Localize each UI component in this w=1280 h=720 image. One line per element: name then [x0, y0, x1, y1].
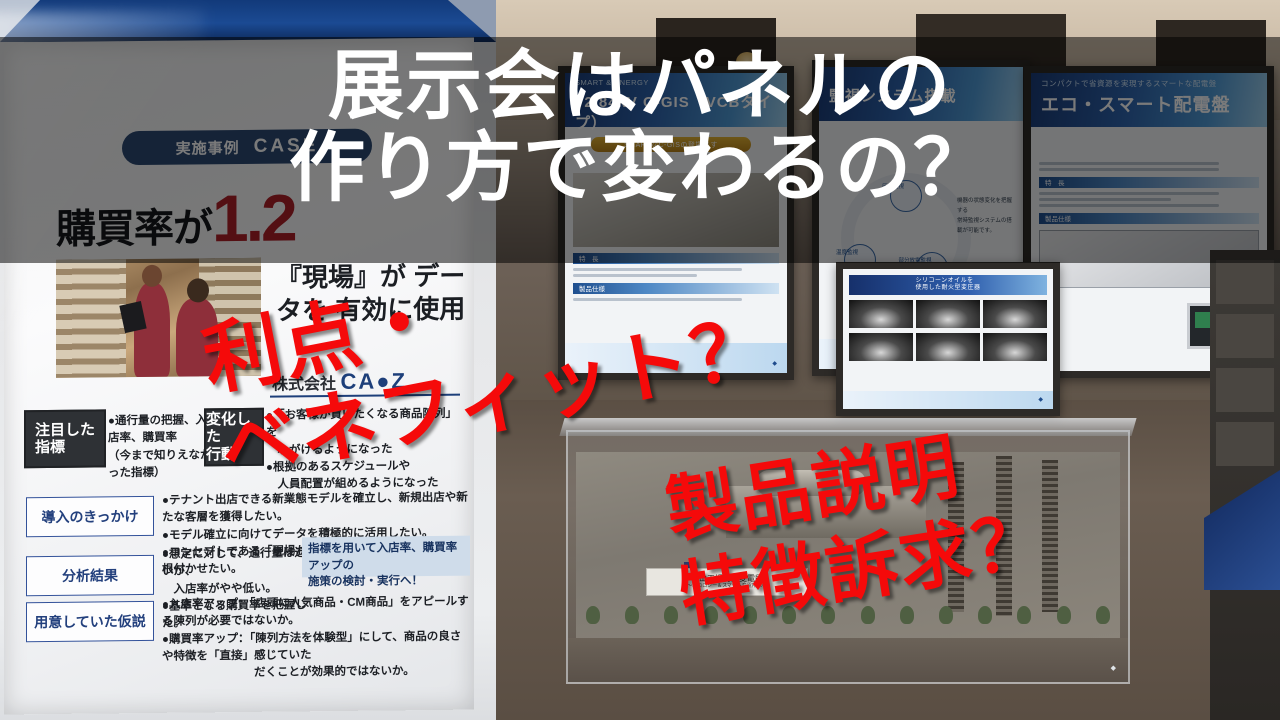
panel-silicone-footer: ◆ — [843, 391, 1053, 409]
panel-silicone-oil: シリコーンオイルを 使用した耐火型変圧器 ◆ — [836, 262, 1060, 416]
flame-photo — [916, 300, 980, 328]
metric-chip: 注目した 指標 — [24, 409, 106, 468]
row-label-kasetsu: 用意していた仮説 — [26, 601, 154, 642]
rack-shelf — [1216, 368, 1274, 412]
flame-test-row-1 — [849, 300, 1047, 328]
model-tree — [939, 606, 953, 624]
flame-test-row-2 — [849, 333, 1047, 361]
flame-photo — [983, 333, 1047, 361]
case-lid — [559, 418, 1136, 436]
rack-shelf — [1216, 422, 1274, 466]
slide-title: 展示会はパネルの 作り方で変わるの？ — [0, 46, 1280, 210]
flame-photo — [849, 300, 913, 328]
row-label-bunseki: 分析結果 — [26, 555, 154, 596]
thumbnail-canvas: 実施事例 CASE 購買率が1.2 『現場』が データを 有効に使用 株式会社 … — [0, 0, 1280, 720]
rack-shelf — [1216, 314, 1274, 358]
flame-photo — [849, 333, 913, 361]
model-tree — [586, 606, 600, 624]
brand-mark: ◆ — [1111, 664, 1116, 672]
model-tree — [625, 606, 639, 624]
flame-photo — [983, 300, 1047, 328]
model-tree — [900, 606, 914, 624]
model-tree — [1057, 606, 1071, 624]
brand-mark: ◆ — [1038, 396, 1043, 403]
metric-bullets: ●通行量の把握、入店率、購買率 （今まで知りえなかった指標） — [108, 412, 218, 482]
flame-photo — [916, 333, 980, 361]
model-tree — [978, 606, 992, 624]
model-tree — [664, 606, 678, 624]
model-tree — [1096, 606, 1110, 624]
poster-callout: 指標を用いて入店率、購買率アップの 施策の検討・実行へ！ — [302, 536, 470, 578]
shelf-left — [56, 259, 126, 378]
row-text-kasetsu: ●入店率アップ：「店頭に人気商品・CM商品」をアピールする陳列が必要ではないか。… — [162, 594, 472, 683]
row-label-kikkake: 導入のきっかけ — [26, 496, 154, 537]
rack-shelf — [1216, 260, 1274, 304]
case-base: ◆ — [568, 638, 1128, 682]
panel-silicone-title: シリコーンオイルを 使用した耐火型変圧器 — [849, 275, 1047, 295]
model-tree — [1017, 606, 1031, 624]
